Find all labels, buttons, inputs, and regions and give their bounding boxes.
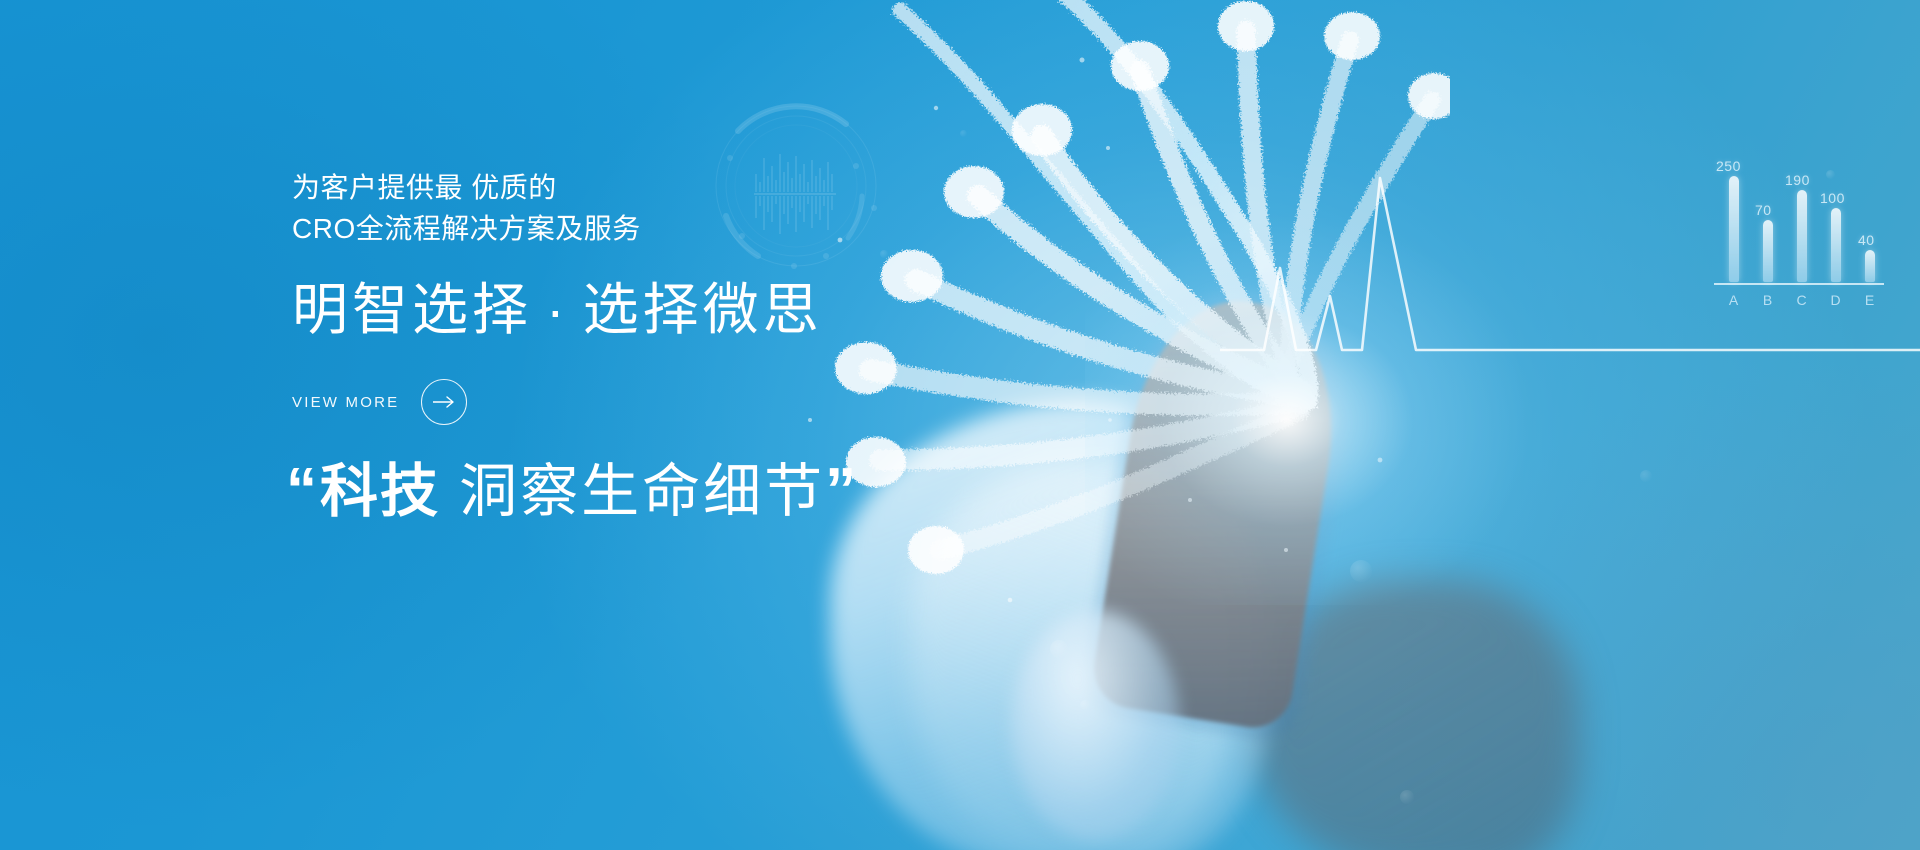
hero-subtitle-line-2: CRO全流程解决方案及服务 bbox=[292, 208, 641, 249]
hero-headline-part-2: 选择微思 bbox=[583, 278, 823, 341]
view-more-circle[interactable] bbox=[421, 379, 467, 425]
hero-headline: 明智选择·选择微思 bbox=[292, 273, 823, 347]
hero-headline-separator: · bbox=[532, 278, 583, 341]
hero-banner: 250 70 190 100 40 A B C D E 为客户提供最 优质的 C… bbox=[0, 0, 1920, 850]
chart-value-label-c: 190 bbox=[1785, 172, 1810, 188]
chart-bar-c bbox=[1797, 190, 1807, 282]
bokeh-dot bbox=[1640, 470, 1652, 482]
arrow-right-icon bbox=[432, 395, 456, 409]
hero-subtitle: 为客户提供最 优质的 CRO全流程解决方案及服务 bbox=[292, 167, 641, 249]
chart-value-label-b: 70 bbox=[1755, 202, 1772, 218]
chart-bar-e bbox=[1865, 250, 1875, 282]
bokeh-dot bbox=[1350, 560, 1372, 582]
hero-subtitle-line-1: 为客户提供最 优质的 bbox=[292, 172, 557, 203]
chart-bar-d bbox=[1831, 208, 1841, 282]
hero-quote: “科技 洞察生命细节” bbox=[286, 452, 859, 531]
chart-category-a: A bbox=[1724, 292, 1744, 308]
chart-bar-b bbox=[1763, 220, 1773, 282]
chart-value-label-a: 250 bbox=[1716, 158, 1741, 174]
bokeh-dot bbox=[1080, 700, 1090, 710]
chart-baseline bbox=[1714, 283, 1884, 285]
hero-headline-part-1: 明智选择 bbox=[292, 278, 532, 341]
quote-strong-text: 科技 bbox=[320, 459, 440, 524]
chart-category-b: B bbox=[1758, 292, 1778, 308]
quote-light-text: 洞察生命细节 bbox=[440, 459, 825, 524]
chart-value-label-d: 100 bbox=[1820, 190, 1845, 206]
hero-copy-block: 为客户提供最 优质的 CRO全流程解决方案及服务 明智选择·选择微思 VIEW … bbox=[292, 0, 1052, 850]
chart-value-label-e: 40 bbox=[1858, 232, 1875, 248]
mini-bar-chart: 250 70 190 100 40 A B C D E bbox=[1710, 150, 1910, 320]
bokeh-dot bbox=[1400, 790, 1414, 804]
chart-category-d: D bbox=[1826, 292, 1846, 308]
chart-bar-a bbox=[1729, 176, 1739, 282]
quote-close-mark: ” bbox=[825, 456, 859, 525]
quote-open-mark: “ bbox=[286, 456, 320, 525]
view-more-label: VIEW MORE bbox=[292, 394, 399, 411]
view-more-button[interactable]: VIEW MORE bbox=[292, 379, 467, 425]
bokeh-dot bbox=[1050, 640, 1068, 658]
bokeh-dot bbox=[1826, 170, 1835, 179]
chart-category-e: E bbox=[1860, 292, 1880, 308]
chart-category-c: C bbox=[1792, 292, 1812, 308]
